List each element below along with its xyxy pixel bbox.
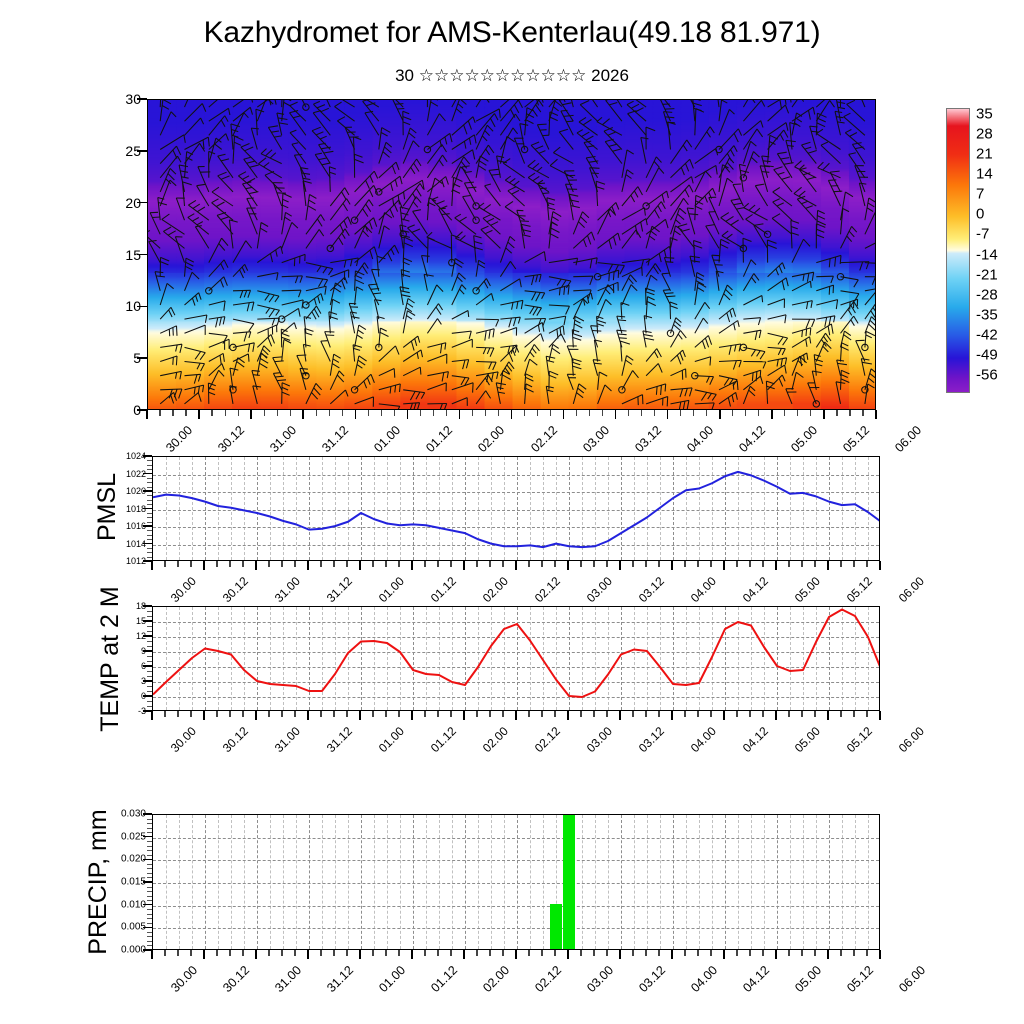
y-tick-major bbox=[137, 357, 147, 358]
x-tick-label: 30.00 bbox=[168, 724, 199, 755]
x-tick-minor bbox=[814, 711, 815, 717]
x-tick-minor bbox=[797, 410, 798, 416]
x-tick-label: 05.00 bbox=[792, 574, 823, 605]
x-tick-minor bbox=[593, 561, 594, 567]
x-tick-label: 04.00 bbox=[688, 574, 719, 605]
x-tick-major bbox=[671, 711, 673, 720]
x-tick-minor bbox=[420, 410, 421, 416]
y-tick-major bbox=[143, 813, 152, 814]
y-tick-minor bbox=[147, 530, 152, 531]
x-tick-label: 04.12 bbox=[736, 423, 768, 455]
x-tick-label: 06.00 bbox=[896, 574, 927, 605]
y-tick-major bbox=[143, 927, 152, 928]
x-tick-minor bbox=[840, 561, 841, 567]
x-tick-minor bbox=[346, 561, 347, 567]
x-tick-minor bbox=[658, 950, 659, 956]
x-tick-minor bbox=[550, 410, 551, 416]
x-tick-minor bbox=[810, 410, 811, 416]
x-tick-label: 31.00 bbox=[272, 574, 303, 605]
y-tick-minor bbox=[147, 691, 152, 692]
x-tick-minor bbox=[524, 410, 525, 416]
y-tick-minor bbox=[147, 552, 152, 553]
x-tick-label: 05.12 bbox=[840, 423, 872, 455]
x-tick-minor bbox=[229, 950, 230, 956]
x-tick-label: 01.00 bbox=[376, 724, 407, 755]
x-tick-minor bbox=[528, 711, 529, 717]
x-tick-major bbox=[411, 950, 413, 959]
x-tick-label: 30.00 bbox=[168, 963, 200, 995]
x-tick-major bbox=[411, 561, 413, 570]
x-tick-minor bbox=[264, 410, 265, 416]
x-tick-major bbox=[775, 711, 777, 720]
x-tick-minor bbox=[554, 950, 555, 956]
x-tick-minor bbox=[294, 950, 295, 956]
x-tick-minor bbox=[424, 950, 425, 956]
x-tick-major bbox=[355, 410, 357, 419]
x-tick-label: 03.00 bbox=[580, 423, 612, 455]
x-tick-minor bbox=[853, 561, 854, 567]
x-tick-minor bbox=[277, 410, 278, 416]
x-tick-major bbox=[827, 950, 829, 959]
x-tick-minor bbox=[346, 711, 347, 717]
y-tick-minor bbox=[147, 641, 152, 642]
wind-barbs-overlay bbox=[148, 100, 875, 409]
y-tick-major bbox=[143, 473, 152, 474]
x-tick-major bbox=[723, 561, 725, 570]
y-tick-minor bbox=[147, 706, 152, 707]
x-tick-major bbox=[563, 410, 565, 419]
x-tick-minor bbox=[242, 950, 243, 956]
x-tick-minor bbox=[320, 711, 321, 717]
x-tick-minor bbox=[372, 950, 373, 956]
y-tick-minor bbox=[147, 936, 152, 937]
x-tick-minor bbox=[749, 711, 750, 717]
y-tick-major bbox=[143, 490, 152, 491]
x-tick-major bbox=[615, 410, 617, 419]
y-tick-minor bbox=[147, 676, 152, 677]
x-tick-major bbox=[463, 711, 465, 720]
x-tick-minor bbox=[498, 410, 499, 416]
x-tick-minor bbox=[593, 711, 594, 717]
y-tick-minor bbox=[147, 855, 152, 856]
weather-forecast-page: Kazhydromet for AMS-Kenterlau(49.18 81.9… bbox=[0, 0, 1024, 1024]
y-tick-minor bbox=[147, 900, 152, 901]
y-tick-major bbox=[143, 695, 152, 696]
x-tick-major bbox=[359, 711, 361, 720]
x-tick-label: 31.00 bbox=[267, 423, 299, 455]
x-tick-label: 31.12 bbox=[319, 423, 351, 455]
x-tick-minor bbox=[242, 561, 243, 567]
x-tick-label: 04.00 bbox=[688, 963, 720, 995]
x-tick-major bbox=[255, 950, 257, 959]
x-tick-label: 03.12 bbox=[636, 724, 667, 755]
page-title: Kazhydromet for AMS-Kenterlau(49.18 81.9… bbox=[0, 16, 1024, 50]
precip-plot bbox=[153, 815, 879, 949]
x-tick-minor bbox=[281, 561, 282, 567]
x-tick-minor bbox=[736, 561, 737, 567]
x-tick-major bbox=[827, 561, 829, 570]
y-tick-minor bbox=[147, 626, 152, 627]
x-tick-label: 05.00 bbox=[792, 963, 824, 995]
y-tick-major bbox=[143, 881, 152, 882]
x-tick-label: 01.00 bbox=[376, 574, 407, 605]
x-tick-major bbox=[359, 561, 361, 570]
x-tick-label: 01.12 bbox=[428, 724, 459, 755]
x-tick-minor bbox=[632, 950, 633, 956]
x-tick-minor bbox=[836, 410, 837, 416]
x-tick-minor bbox=[489, 561, 490, 567]
x-tick-label: 02.12 bbox=[528, 423, 560, 455]
x-tick-minor bbox=[632, 561, 633, 567]
x-tick-minor bbox=[229, 561, 230, 567]
x-tick-minor bbox=[433, 410, 434, 416]
x-tick-minor bbox=[541, 561, 542, 567]
x-tick-label: 31.00 bbox=[272, 963, 304, 995]
x-tick-label: 02.00 bbox=[480, 574, 511, 605]
subtitle-day: 30 bbox=[395, 66, 414, 85]
x-tick-minor bbox=[645, 561, 646, 567]
y-tick-minor bbox=[147, 846, 152, 847]
x-tick-minor bbox=[849, 410, 850, 416]
x-tick-label: 31.12 bbox=[324, 963, 356, 995]
x-tick-minor bbox=[866, 561, 867, 567]
y-tick-major bbox=[143, 836, 152, 837]
x-tick-major bbox=[515, 711, 517, 720]
x-tick-label: 04.12 bbox=[740, 963, 772, 995]
x-tick-label: 03.00 bbox=[584, 574, 615, 605]
colorbar-tick-label: -49 bbox=[976, 346, 998, 363]
x-tick-minor bbox=[654, 410, 655, 416]
x-tick-minor bbox=[606, 561, 607, 567]
colorbar-tick-label: -21 bbox=[976, 266, 998, 283]
x-tick-label: 06.00 bbox=[896, 963, 928, 995]
y-tick-major bbox=[143, 859, 152, 860]
x-tick-minor bbox=[190, 561, 191, 567]
temp-x-axis: 30.0030.1231.0031.1201.0001.1202.0002.12… bbox=[152, 711, 880, 767]
x-tick-label: 04.00 bbox=[688, 724, 719, 755]
y-tick-minor bbox=[147, 478, 152, 479]
x-tick-label: 02.00 bbox=[480, 963, 512, 995]
x-tick-major bbox=[203, 950, 205, 959]
y-tick-minor bbox=[147, 487, 152, 488]
x-tick-label: 31.12 bbox=[324, 724, 355, 755]
x-tick-minor bbox=[268, 711, 269, 717]
y-tick-minor bbox=[147, 646, 152, 647]
x-tick-minor bbox=[159, 410, 160, 416]
x-tick-label: 06.00 bbox=[892, 423, 924, 455]
y-tick-minor bbox=[147, 535, 152, 536]
pmsl-series-line bbox=[153, 457, 879, 560]
x-tick-major bbox=[151, 711, 153, 720]
x-tick-minor bbox=[801, 711, 802, 717]
subtitle-year: 2026 bbox=[591, 66, 629, 85]
x-tick-major bbox=[359, 950, 361, 959]
x-tick-minor bbox=[346, 950, 347, 956]
grid-line-horizontal bbox=[153, 860, 879, 861]
pmsl-plot bbox=[153, 457, 879, 560]
y-tick-minor bbox=[147, 671, 152, 672]
x-tick-major bbox=[463, 950, 465, 959]
x-tick-major bbox=[879, 711, 881, 720]
x-tick-minor bbox=[372, 561, 373, 567]
x-tick-minor bbox=[424, 711, 425, 717]
x-tick-major bbox=[723, 950, 725, 959]
x-tick-minor bbox=[762, 950, 763, 956]
x-tick-major bbox=[198, 410, 200, 419]
x-tick-minor bbox=[758, 410, 759, 416]
x-tick-minor bbox=[216, 711, 217, 717]
x-tick-minor bbox=[589, 410, 590, 416]
y-tick-minor bbox=[147, 819, 152, 820]
x-tick-minor bbox=[749, 950, 750, 956]
x-tick-major bbox=[671, 561, 673, 570]
x-tick-minor bbox=[580, 950, 581, 956]
y-tick-minor bbox=[147, 701, 152, 702]
x-tick-minor bbox=[294, 711, 295, 717]
x-tick-label: 03.12 bbox=[636, 574, 667, 605]
grid-line-horizontal bbox=[153, 838, 879, 839]
x-tick-major bbox=[307, 711, 309, 720]
x-tick-label: 05.12 bbox=[844, 724, 875, 755]
y-tick-minor bbox=[147, 828, 152, 829]
x-tick-minor bbox=[554, 711, 555, 717]
x-tick-minor bbox=[645, 950, 646, 956]
x-tick-minor bbox=[281, 950, 282, 956]
y-tick-major bbox=[143, 620, 152, 621]
precip-panel bbox=[152, 814, 880, 950]
x-tick-label: 04.12 bbox=[740, 574, 771, 605]
x-tick-minor bbox=[580, 561, 581, 567]
x-tick-major bbox=[411, 711, 413, 720]
x-tick-major bbox=[879, 561, 881, 570]
x-tick-minor bbox=[706, 410, 707, 416]
y-tick-minor bbox=[147, 495, 152, 496]
x-tick-minor bbox=[593, 950, 594, 956]
x-tick-minor bbox=[762, 561, 763, 567]
temp-panel bbox=[152, 606, 880, 711]
x-tick-minor bbox=[853, 711, 854, 717]
cross-section-y-axis: 302520151050 bbox=[100, 99, 147, 410]
x-tick-minor bbox=[164, 561, 165, 567]
y-tick-major bbox=[143, 680, 152, 681]
x-tick-minor bbox=[554, 561, 555, 567]
x-tick-minor bbox=[450, 561, 451, 567]
x-tick-minor bbox=[866, 711, 867, 717]
x-tick-minor bbox=[684, 711, 685, 717]
x-tick-minor bbox=[658, 711, 659, 717]
y-tick-minor bbox=[147, 522, 152, 523]
x-tick-minor bbox=[788, 950, 789, 956]
x-tick-minor bbox=[333, 561, 334, 567]
x-tick-label: 03.00 bbox=[584, 724, 615, 755]
x-tick-label: 05.12 bbox=[844, 963, 876, 995]
x-tick-major bbox=[667, 410, 669, 419]
x-tick-major bbox=[771, 410, 773, 419]
y-tick-major bbox=[143, 508, 152, 509]
x-tick-minor bbox=[606, 950, 607, 956]
x-tick-minor bbox=[281, 711, 282, 717]
x-tick-minor bbox=[216, 561, 217, 567]
y-tick-minor bbox=[147, 539, 152, 540]
x-tick-minor bbox=[862, 410, 863, 416]
y-tick-major bbox=[137, 306, 147, 307]
x-tick-major bbox=[823, 410, 825, 419]
y-tick-minor bbox=[147, 611, 152, 612]
x-tick-minor bbox=[320, 561, 321, 567]
colorbar-tick-label: 7 bbox=[976, 186, 984, 203]
x-tick-minor bbox=[541, 950, 542, 956]
cross-section-plot bbox=[148, 100, 875, 409]
y-tick-major bbox=[137, 254, 147, 255]
x-tick-minor bbox=[398, 950, 399, 956]
x-tick-label: 03.12 bbox=[636, 963, 668, 995]
x-tick-minor bbox=[381, 410, 382, 416]
x-tick-minor bbox=[290, 410, 291, 416]
x-tick-minor bbox=[736, 950, 737, 956]
x-tick-minor bbox=[472, 410, 473, 416]
x-tick-minor bbox=[684, 561, 685, 567]
x-tick-label: 02.12 bbox=[532, 963, 564, 995]
x-tick-minor bbox=[814, 561, 815, 567]
x-tick-label: 04.12 bbox=[740, 724, 771, 755]
x-tick-minor bbox=[485, 410, 486, 416]
x-tick-major bbox=[250, 410, 252, 419]
x-tick-minor bbox=[697, 950, 698, 956]
x-tick-label: 30.00 bbox=[168, 574, 199, 605]
x-tick-minor bbox=[693, 410, 694, 416]
x-tick-major bbox=[151, 561, 153, 570]
y-tick-major bbox=[143, 525, 152, 526]
y-tick-minor bbox=[147, 631, 152, 632]
y-tick-major bbox=[143, 605, 152, 606]
x-tick-minor bbox=[602, 410, 603, 416]
x-tick-minor bbox=[680, 410, 681, 416]
x-tick-label: 03.00 bbox=[584, 963, 616, 995]
x-tick-major bbox=[511, 410, 513, 419]
x-tick-label: 04.00 bbox=[684, 423, 716, 455]
x-tick-minor bbox=[541, 711, 542, 717]
y-tick-minor bbox=[147, 864, 152, 865]
x-tick-minor bbox=[749, 561, 750, 567]
x-tick-major bbox=[567, 950, 569, 959]
y-tick-major bbox=[137, 202, 147, 203]
temp-plot bbox=[153, 607, 879, 710]
y-tick-major bbox=[143, 543, 152, 544]
x-tick-label: 02.12 bbox=[532, 574, 563, 605]
x-tick-minor bbox=[229, 711, 230, 717]
x-tick-minor bbox=[840, 950, 841, 956]
x-tick-minor bbox=[710, 950, 711, 956]
y-tick-major bbox=[137, 98, 147, 99]
y-tick-minor bbox=[147, 918, 152, 919]
x-tick-minor bbox=[172, 410, 173, 416]
precip-x-axis: 30.0030.1231.0031.1201.0001.1202.0002.12… bbox=[152, 950, 880, 1008]
x-tick-minor bbox=[398, 711, 399, 717]
x-tick-minor bbox=[476, 711, 477, 717]
x-tick-major bbox=[203, 561, 205, 570]
y-tick-minor bbox=[147, 661, 152, 662]
x-tick-minor bbox=[476, 950, 477, 956]
x-tick-minor bbox=[801, 950, 802, 956]
x-tick-minor bbox=[732, 410, 733, 416]
x-tick-label: 30.12 bbox=[220, 724, 251, 755]
x-tick-label: 06.00 bbox=[896, 724, 927, 755]
x-tick-minor bbox=[606, 711, 607, 717]
temp-series-line bbox=[153, 607, 879, 710]
x-tick-major bbox=[723, 711, 725, 720]
subtitle-month-glyphs: ☆☆☆☆☆☆☆☆☆☆☆ bbox=[419, 66, 587, 85]
x-tick-label: 05.00 bbox=[788, 423, 820, 455]
y-tick-minor bbox=[147, 841, 152, 842]
x-tick-minor bbox=[840, 711, 841, 717]
x-tick-minor bbox=[450, 711, 451, 717]
x-tick-minor bbox=[368, 410, 369, 416]
x-tick-major bbox=[879, 950, 881, 959]
grid-line-horizontal bbox=[153, 928, 879, 929]
y-tick-major bbox=[143, 635, 152, 636]
x-tick-minor bbox=[801, 561, 802, 567]
x-tick-major bbox=[619, 561, 621, 570]
x-tick-minor bbox=[238, 410, 239, 416]
x-tick-minor bbox=[294, 561, 295, 567]
x-tick-label: 01.12 bbox=[428, 574, 459, 605]
x-tick-minor bbox=[489, 950, 490, 956]
x-tick-major bbox=[515, 950, 517, 959]
x-tick-minor bbox=[164, 711, 165, 717]
x-tick-label: 31.12 bbox=[324, 574, 355, 605]
x-tick-minor bbox=[489, 711, 490, 717]
x-tick-label: 31.00 bbox=[272, 724, 303, 755]
colorbar-tick-label: -35 bbox=[976, 306, 998, 323]
y-tick-minor bbox=[147, 686, 152, 687]
x-tick-minor bbox=[437, 711, 438, 717]
x-tick-minor bbox=[177, 711, 178, 717]
x-tick-major bbox=[459, 410, 461, 419]
x-tick-minor bbox=[866, 950, 867, 956]
colorbar-tick-label: -28 bbox=[976, 286, 998, 303]
x-tick-minor bbox=[446, 410, 447, 416]
x-tick-minor bbox=[736, 711, 737, 717]
x-tick-major bbox=[775, 561, 777, 570]
x-tick-minor bbox=[528, 950, 529, 956]
x-tick-minor bbox=[632, 711, 633, 717]
x-tick-minor bbox=[185, 410, 186, 416]
y-tick-minor bbox=[147, 557, 152, 558]
y-tick-minor bbox=[147, 469, 152, 470]
x-tick-label: 05.12 bbox=[844, 574, 875, 605]
y-tick-minor bbox=[147, 656, 152, 657]
x-tick-minor bbox=[385, 711, 386, 717]
x-tick-minor bbox=[342, 410, 343, 416]
x-tick-major bbox=[827, 711, 829, 720]
colorbar-tick-label: 35 bbox=[976, 106, 993, 123]
x-tick-major bbox=[619, 950, 621, 959]
x-tick-minor bbox=[385, 561, 386, 567]
colorbar-tick-label: 0 bbox=[976, 206, 984, 223]
y-tick-minor bbox=[147, 850, 152, 851]
temp-axis-title: TEMP at 2 M bbox=[90, 539, 130, 779]
x-tick-minor bbox=[641, 410, 642, 416]
date-subtitle: 30 ☆☆☆☆☆☆☆☆☆☆☆ 2026 bbox=[0, 66, 1024, 86]
y-tick-minor bbox=[147, 914, 152, 915]
x-tick-minor bbox=[242, 711, 243, 717]
y-tick-minor bbox=[147, 932, 152, 933]
y-tick-minor bbox=[147, 465, 152, 466]
x-tick-minor bbox=[316, 410, 317, 416]
grid-line-horizontal bbox=[153, 883, 879, 884]
y-tick-minor bbox=[147, 923, 152, 924]
x-tick-major bbox=[719, 410, 721, 419]
